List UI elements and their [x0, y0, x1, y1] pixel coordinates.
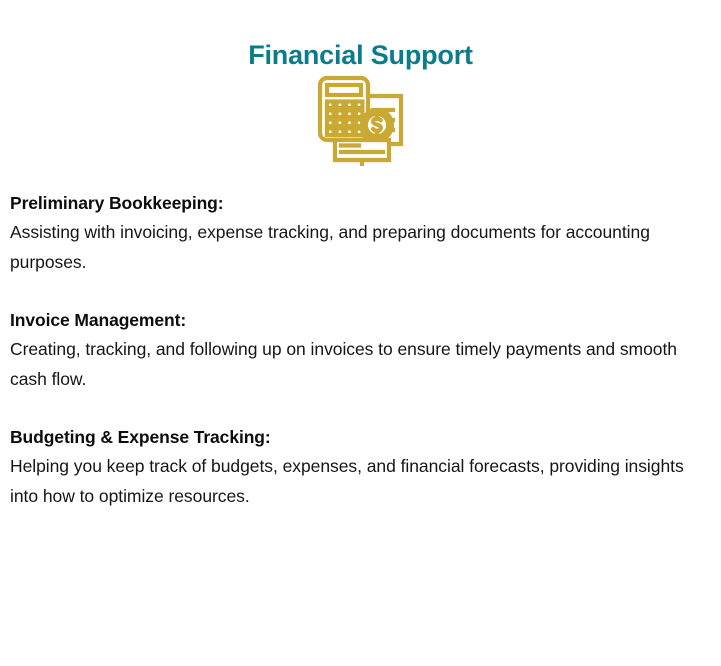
financial-support-page: Financial Support	[0, 0, 721, 666]
calculator-invoice-dollar-icon	[315, 74, 407, 166]
page-title: Financial Support	[0, 39, 721, 71]
service-description: Helping you keep track of budgets, expen…	[10, 452, 692, 511]
service-section: Invoice Management: Creating, tracking, …	[10, 305, 700, 394]
financial-support-illustration	[0, 72, 721, 168]
service-section: Preliminary Bookkeeping: Assisting with …	[10, 188, 700, 277]
service-section: Budgeting & Expense Tracking: Helping yo…	[10, 422, 700, 511]
service-heading: Invoice Management:	[10, 305, 700, 335]
service-heading: Preliminary Bookkeeping:	[10, 188, 700, 218]
services-list: Preliminary Bookkeeping: Assisting with …	[10, 188, 700, 511]
service-description: Assisting with invoicing, expense tracki…	[10, 218, 692, 277]
service-heading: Budgeting & Expense Tracking:	[10, 422, 700, 452]
service-description: Creating, tracking, and following up on …	[10, 335, 692, 394]
